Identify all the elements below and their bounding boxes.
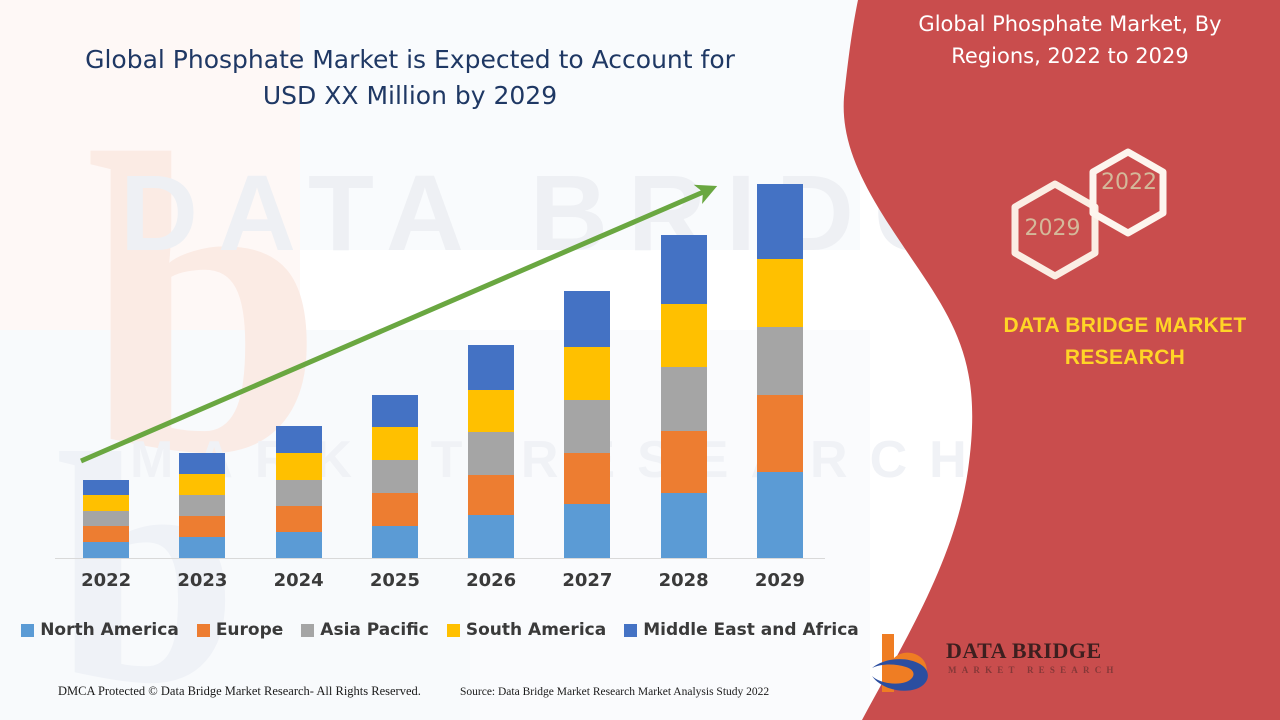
logo-wordmark: DATA BRIDGE [946,638,1102,664]
brand-name: DATA BRIDGE MARKET RESEARCH [975,310,1275,374]
hexagon-end-year-label: 2029 [1010,216,1095,241]
panel-title: Global Phosphate Market, By Regions, 202… [905,8,1235,72]
data-bridge-logo: DATA BRIDGE MARKET RESEARCH [868,624,1103,702]
infographic-canvas: b b DATA BRIDGE MARKET RESEARCH Global P… [0,0,1280,720]
hexagon-start-year-label: 2022 [1090,170,1168,195]
logo-tagline: MARKET RESEARCH [948,665,1119,675]
logo-mark-icon [868,628,948,698]
